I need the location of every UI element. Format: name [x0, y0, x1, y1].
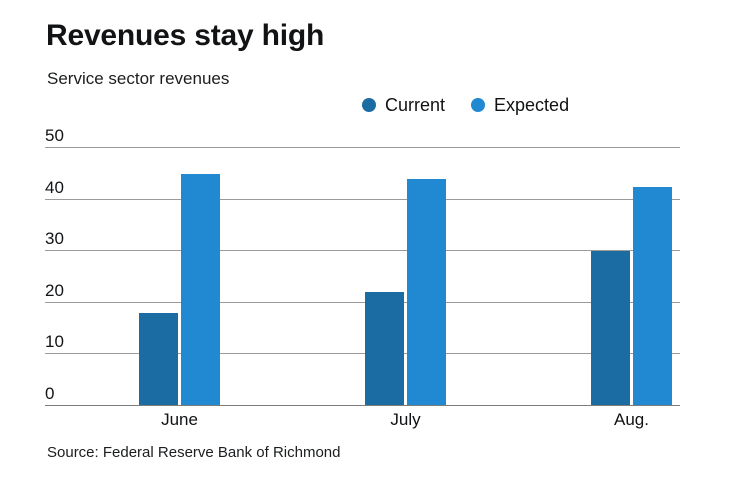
bars-layer [45, 148, 680, 406]
chart-subtitle: Service sector revenues [47, 68, 229, 90]
x-tick-label-aug: Aug. [591, 409, 672, 431]
bar-current-june[interactable] [139, 313, 178, 406]
x-tick-label-july: July [365, 409, 446, 431]
y-tick-label-0: 0 [45, 384, 54, 404]
bar-group-aug [591, 148, 672, 406]
legend-item-current[interactable]: Current [362, 94, 445, 116]
legend-label: Expected [494, 95, 569, 115]
y-tick-label-50: 50 [45, 126, 64, 146]
bar-expected-aug[interactable] [633, 187, 672, 406]
chart-title: Revenues stay high [46, 18, 324, 54]
plot-area [45, 148, 680, 406]
chart-legend: CurrentExpected [362, 94, 569, 116]
source-note: Source: Federal Reserve Bank of Richmond [47, 443, 340, 463]
bar-current-july[interactable] [365, 292, 404, 406]
bar-group-june [139, 148, 220, 406]
bar-current-aug[interactable] [591, 251, 630, 406]
bar-expected-june[interactable] [181, 174, 220, 406]
bar-expected-july[interactable] [407, 179, 446, 406]
legend-swatch-icon [362, 98, 376, 112]
y-tick-label-40: 40 [45, 178, 64, 198]
y-tick-label-20: 20 [45, 281, 64, 301]
chart-card: Revenues stay high Service sector revenu… [0, 0, 740, 482]
x-axis-tick-labels: JuneJulyAug. [45, 409, 680, 433]
bar-group-july [365, 148, 446, 406]
y-tick-label-30: 30 [45, 229, 64, 249]
x-axis-line [45, 405, 680, 406]
y-tick-label-10: 10 [45, 332, 64, 352]
legend-label: Current [385, 95, 445, 115]
legend-swatch-icon [471, 98, 485, 112]
x-tick-label-june: June [139, 409, 220, 431]
legend-item-expected[interactable]: Expected [471, 94, 569, 116]
